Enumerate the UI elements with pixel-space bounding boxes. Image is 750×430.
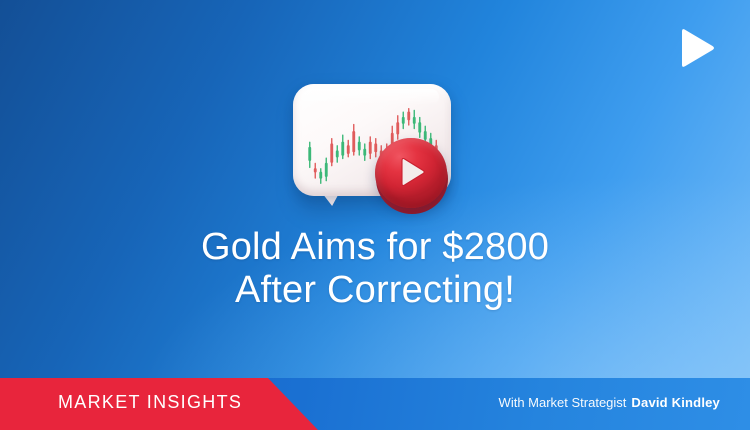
presenter-credit: With Market StrategistDavid Kindley [499,395,720,410]
page-title: Gold Aims for $2800 After Correcting! [0,226,750,312]
presenter-name: David Kindley [631,395,720,410]
3d-speech-bubble-candlestick-chart [285,72,470,217]
title-line-1: Gold Aims for $2800 [201,226,549,268]
title-line-2: After Correcting! [0,269,750,312]
video-thumbnail: Gold Aims for $2800 After Correcting! MA… [0,0,750,430]
play-triangle-icon[interactable] [672,25,719,72]
credit-prefix: With Market Strategist [499,395,627,410]
bottom-banner: MARKET INSIGHTS With Market StrategistDa… [0,378,750,430]
banner-label: MARKET INSIGHTS [58,392,242,413]
play-button-3d[interactable] [373,136,451,214]
play-triangle-icon [395,156,428,188]
